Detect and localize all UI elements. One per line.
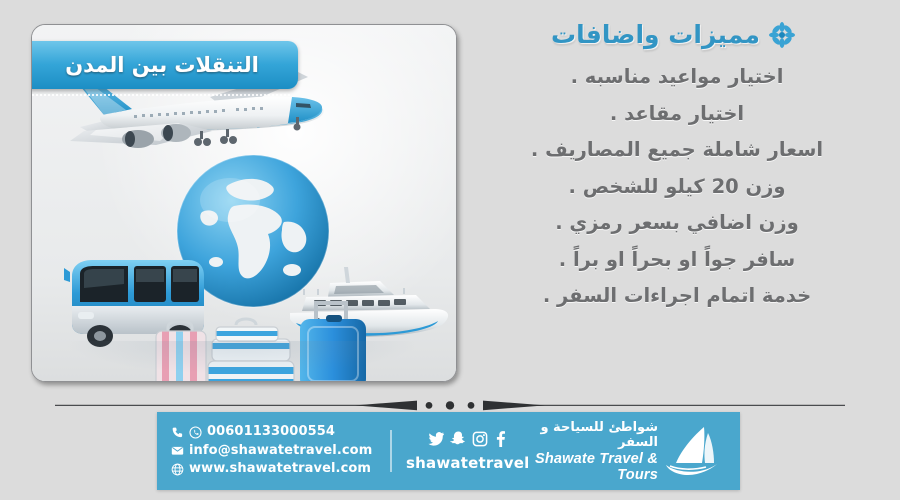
twitter-icon[interactable]	[428, 430, 445, 451]
decorative-divider	[55, 398, 845, 412]
footer-bar: 00601133000554 info@shawatetravel.com	[157, 412, 740, 490]
social-icon-row	[406, 430, 529, 451]
telephone-icon	[171, 426, 184, 439]
brand-name-english: Shawate Travel & Tours	[529, 451, 658, 483]
feature-item: اسعار شاملة جميع المصاريف .	[462, 140, 892, 160]
advertisement-root: التنقلات بين المدن	[0, 0, 900, 500]
snapchat-icon[interactable]	[450, 430, 467, 451]
instagram-icon[interactable]	[472, 431, 488, 451]
whatsapp-icon	[189, 426, 202, 439]
brand-text: شواطئ للسياحة و السفر Shawate Travel & T…	[529, 420, 658, 483]
contact-website: www.shawatetravel.com	[189, 460, 371, 478]
feature-item: اختيار مقاعد .	[462, 104, 892, 124]
brand-block: شواطئ للسياحة و السفر Shawate Travel & T…	[529, 420, 740, 483]
features-section: مميزات واضافات اختيار مواعيد مناسبه . اخ…	[462, 8, 892, 388]
sailboat-icon	[664, 425, 722, 477]
contact-email-row[interactable]: info@shawatetravel.com	[171, 442, 372, 460]
contact-block: 00601133000554 info@shawatetravel.com	[157, 423, 372, 478]
social-handle: shawatetravel	[406, 454, 529, 472]
footer-separator	[390, 430, 392, 472]
feature-item: اختيار مواعيد مناسبه .	[462, 67, 892, 87]
travel-image-panel: التنقلات بين المدن	[31, 24, 457, 382]
features-heading-row: مميزات واضافات	[462, 20, 884, 49]
feature-item: وزن 20 كيلو للشخص .	[462, 177, 892, 197]
envelope-icon	[171, 444, 184, 457]
ribbon-label: التنقلات بين المدن	[65, 53, 259, 77]
feature-item: خدمة اتمام اجراءات السفر .	[462, 286, 892, 306]
brand-name-arabic: شواطئ للسياحة و السفر	[529, 420, 658, 450]
feature-item: وزن اضافي بسعر رمزي .	[462, 213, 892, 233]
social-block: shawatetravel	[406, 430, 529, 472]
contact-website-row[interactable]: www.shawatetravel.com	[171, 460, 372, 478]
contact-email: info@shawatetravel.com	[189, 442, 372, 460]
scene-reflection	[62, 341, 422, 375]
features-heading: مميزات واضافات	[551, 20, 760, 49]
contact-phone-row[interactable]: 00601133000554	[171, 423, 372, 441]
globe-icon	[171, 463, 184, 476]
asterisk-flower-icon	[769, 22, 795, 48]
facebook-icon[interactable]	[493, 431, 508, 451]
features-list: اختيار مواعيد مناسبه . اختيار مقاعد . اس…	[462, 67, 892, 306]
contact-phone: 00601133000554	[207, 423, 335, 441]
panel-ribbon: التنقلات بين المدن	[31, 41, 298, 89]
feature-item: سافر جواً او بحراً او براً .	[462, 250, 892, 270]
